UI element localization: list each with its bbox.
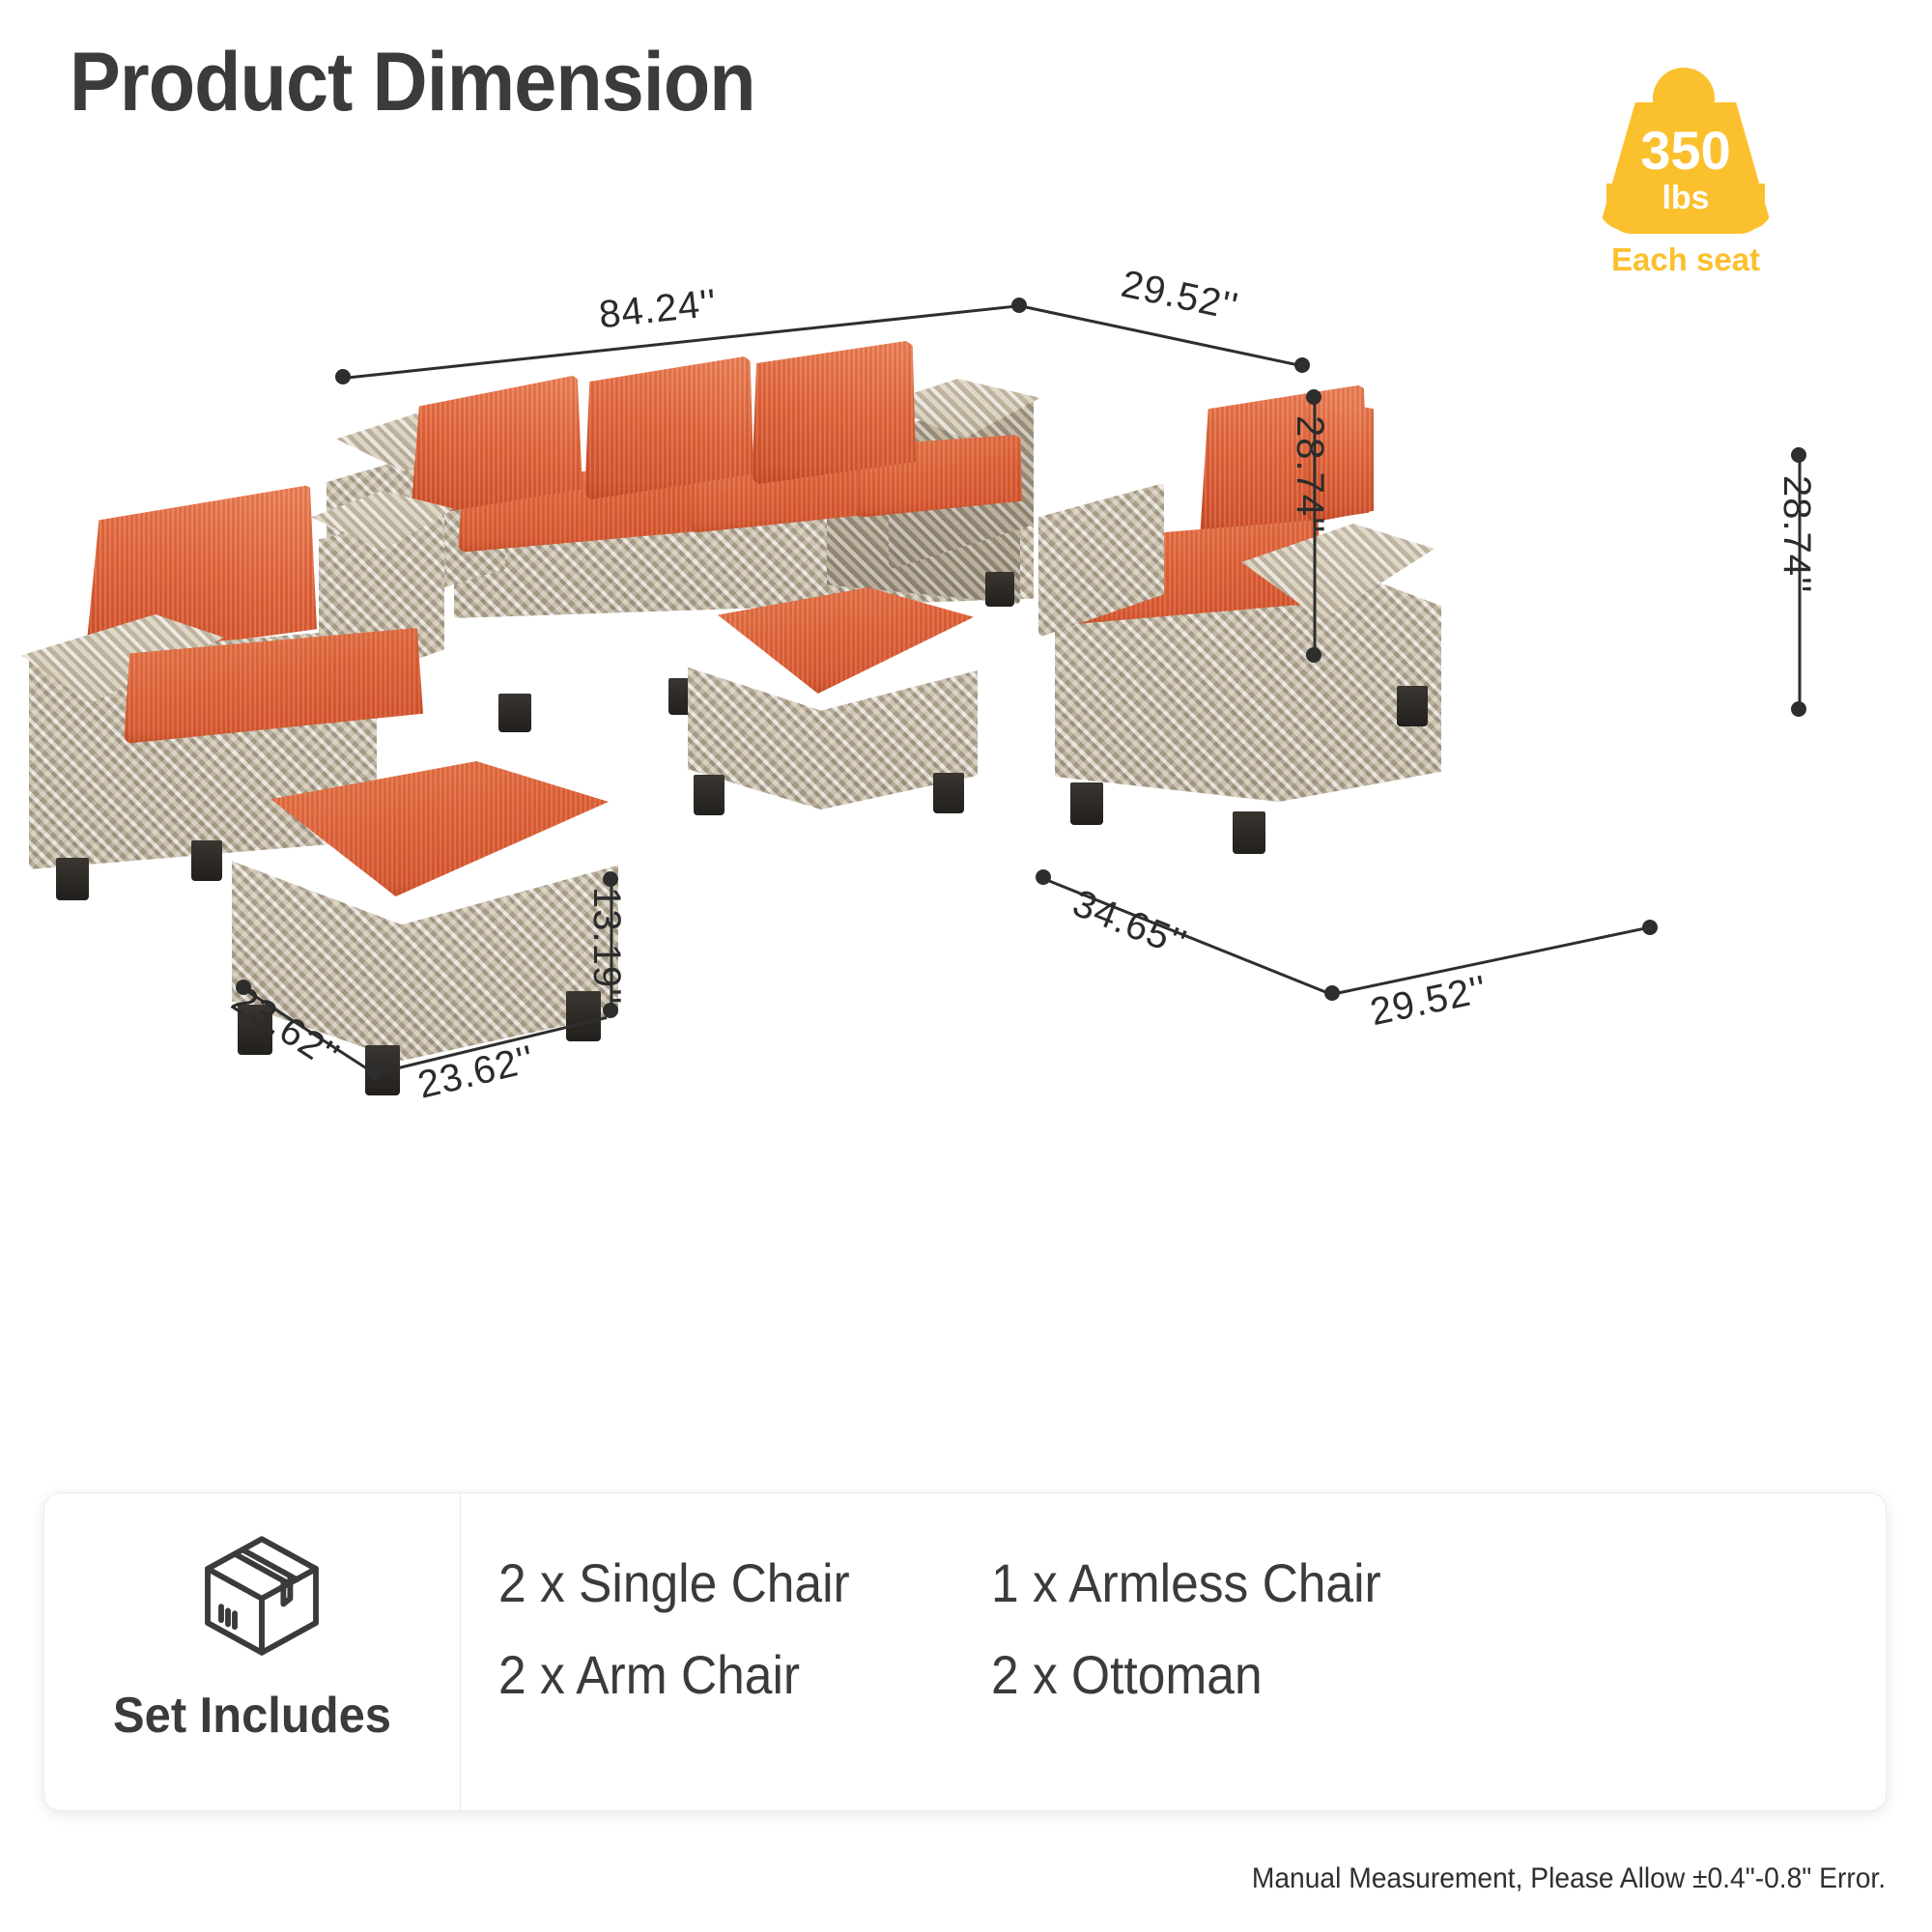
weight-unit: lbs <box>1599 182 1773 214</box>
dim-dot-chair-depth-end <box>1642 920 1658 935</box>
dim-label-sofa-height: 28.74'' <box>1288 415 1331 533</box>
weight-caption: Each seat <box>1570 241 1802 278</box>
dim-label-sofa-depth: 29.52'' <box>1118 263 1242 329</box>
dim-dot-sofa-depth-end <box>1294 357 1310 373</box>
left-chair-foot-2 <box>191 840 222 881</box>
list-item: 2 x Ottoman <box>991 1643 1782 1735</box>
list-item: 2 x Single Chair <box>498 1551 952 1643</box>
sofa-back-cushion-3 <box>752 340 916 485</box>
left-chair-foot-1 <box>56 858 89 900</box>
card-divider <box>460 1493 461 1812</box>
right-chair-foot-1 <box>1070 782 1103 825</box>
dim-dot-chair-height-bottom <box>1791 701 1806 717</box>
weight-value: 350 <box>1599 124 1773 178</box>
package-box-icon <box>194 1528 329 1663</box>
list-item: 2 x Arm Chair <box>498 1643 952 1735</box>
dim-label-ottoman-height: 13.19'' <box>584 887 628 1005</box>
product-illustration: 84.24'' 29.52'' 28.74'' 28.74'' 34.65'' … <box>0 261 1932 1391</box>
dim-label-chair-height: 28.74'' <box>1775 475 1818 593</box>
set-includes-card: Set Includes 2 x Single Chair 1 x Armles… <box>43 1492 1887 1811</box>
center-ottoman-foot-1 <box>694 775 724 815</box>
weight-capacity-badge: 350 lbs Each seat <box>1599 68 1773 270</box>
center-ottoman-foot-2 <box>933 773 964 813</box>
dim-label-sofa-width: 84.24'' <box>597 282 719 338</box>
right-chair-foot-2 <box>1397 686 1428 726</box>
measurement-disclaimer: Manual Measurement, Please Allow ±0.4"-0… <box>1252 1862 1886 1895</box>
set-includes-list: 2 x Single Chair 1 x Armless Chair 2 x A… <box>498 1551 1851 1735</box>
right-chair-foot-3 <box>1233 811 1265 854</box>
dim-label-chair-width: 34.65'' <box>1066 882 1192 966</box>
sofa-foot-left <box>498 694 531 732</box>
product-dimension-page: Product Dimension 350 lbs Each seat <box>0 0 1932 1932</box>
list-item: 1 x Armless Chair <box>991 1551 1782 1643</box>
dim-label-chair-depth: 29.52'' <box>1367 968 1492 1035</box>
dim-line-chair-depth <box>1331 927 1644 996</box>
dim-dot-sofa-height-bottom <box>1306 647 1321 663</box>
page-title: Product Dimension <box>70 35 755 130</box>
sofa-foot-right <box>985 572 1014 607</box>
set-includes-label: Set Includes <box>57 1687 447 1745</box>
